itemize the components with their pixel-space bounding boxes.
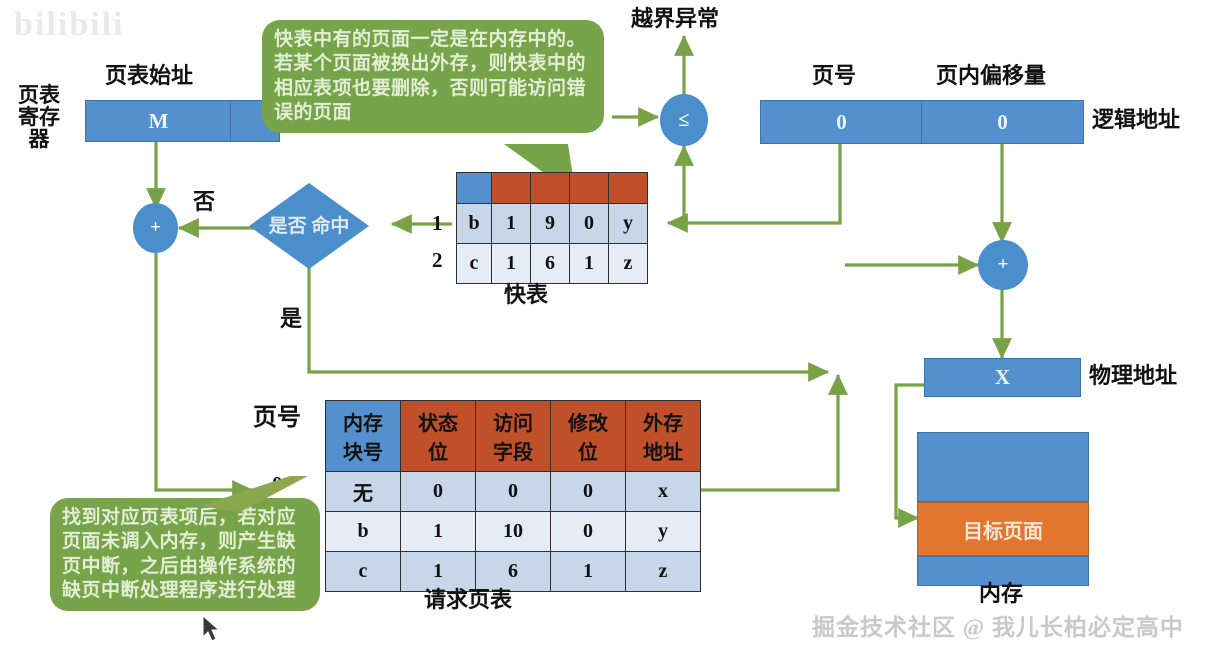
tlb-header-cell-4: [609, 173, 648, 204]
page-table-header-cell: 外存 地址: [626, 401, 701, 472]
tlb-cell: 1: [570, 244, 609, 284]
tlb-cell: c: [457, 244, 492, 284]
page-table-header-cell: 状态 位: [401, 401, 476, 472]
page-table-header-row: 内存 块号 状态 位 访问 字段 修改 位 外存 地址: [326, 401, 701, 472]
memory-block-free-top: [917, 432, 1089, 502]
page-table-cell: 0: [476, 472, 551, 512]
decision-label: 是否 命中: [248, 182, 370, 270]
logical-address-offset-field[interactable]: 0: [921, 100, 1084, 144]
tlb-cell: z: [609, 244, 648, 284]
tlb-caption: 快表: [504, 283, 548, 306]
tlb-cell: 0: [570, 204, 609, 244]
page-table-cell: 1: [401, 552, 476, 592]
offset-header-label: 页内偏移量: [936, 64, 1046, 87]
adder-left[interactable]: +: [133, 203, 178, 253]
page-table-cell: 0: [551, 472, 626, 512]
tlb-note-text: 快表中有的页面一定是在内存中的。若某个页面被换出外存，则快表中的相应表项也要删除…: [262, 20, 604, 133]
tlb-cell: b: [457, 204, 492, 244]
out-of-bounds-exception-label: 越界异常: [631, 7, 719, 30]
memory-caption: 内存: [979, 582, 1023, 605]
page-table-cell: x: [626, 472, 701, 512]
page-table-base-addr-label: 页表始址: [105, 64, 193, 87]
target-page-label: 目标页面: [963, 515, 1043, 544]
diagram-canvas: bilibili 掘金技术社区 @ 我儿长柏必定高中: [0, 0, 1217, 658]
tlb-header-cell-1: [492, 173, 531, 204]
page-number-header-label: 页号: [812, 64, 856, 87]
physical-address-label: 物理地址: [1089, 364, 1177, 387]
tlb-cell: 9: [531, 204, 570, 244]
branch-label-yes: 是: [280, 307, 302, 330]
page-table-caption: 请求页表: [424, 588, 512, 611]
tlb-cell: 6: [531, 244, 570, 284]
tlb-table-row: c 1 6 1 z: [457, 244, 648, 284]
branch-label-no: 否: [193, 190, 215, 213]
page-table-cell: z: [626, 552, 701, 592]
logical-address-page-number-field[interactable]: 0: [760, 100, 923, 144]
tlb-cell: 1: [492, 244, 531, 284]
page-table-cell: c: [326, 552, 401, 592]
decision-hit-or-miss[interactable]: 是否 命中: [248, 182, 370, 270]
tlb-row-index-1: 1: [432, 211, 443, 236]
mouse-cursor: [203, 616, 223, 644]
page-table-header-cell: 访问 字段: [476, 401, 551, 472]
page-table-base-addr-field[interactable]: M: [85, 100, 232, 142]
physical-address-field[interactable]: X: [924, 358, 1081, 397]
tlb-header-cell-3: [570, 173, 609, 204]
tlb-cell: 1: [492, 204, 531, 244]
page-table-cell: 1: [401, 512, 476, 552]
community-watermark: 掘金技术社区 @ 我儿长柏必定高中: [812, 608, 1184, 642]
tlb-cell: y: [609, 204, 648, 244]
tlb-header-cell-2: [531, 173, 570, 204]
logical-address-label: 逻辑地址: [1092, 108, 1180, 131]
tlb-header-cell-0: [457, 173, 492, 204]
page-table-row: c 1 6 1 z: [326, 552, 701, 592]
page-table-cell: b: [326, 512, 401, 552]
tlb-table-row: b 1 9 0 y: [457, 204, 648, 244]
adder-right[interactable]: +: [978, 240, 1028, 290]
page-table-cell: 0: [551, 512, 626, 552]
bilibili-watermark-logo: bilibili: [14, 6, 125, 44]
tlb-note-callout: 快表中有的页面一定是在内存中的。若某个页面被换出外存，则快表中的相应表项也要删除…: [262, 20, 604, 133]
tlb-header-row: [457, 173, 648, 204]
page-table-cell: y: [626, 512, 701, 552]
page-number-side-label: 页号: [253, 406, 301, 431]
tlb-table: b 1 9 0 y c 1 6 1 z: [456, 172, 648, 284]
memory-block-target-page: 目标页面: [917, 502, 1089, 556]
memory-diagram: 目标页面: [917, 432, 1089, 586]
page-fault-note-callout: 找到对应页表项后，若对应页面未调入内存，则产生缺页中断，之后由操作系统的缺页中断…: [50, 498, 320, 611]
page-table-register-label: 页表 寄存 器: [18, 84, 60, 150]
page-table-cell: 6: [476, 552, 551, 592]
page-table-cell: 10: [476, 512, 551, 552]
tlb-row-index-2: 2: [432, 248, 443, 273]
page-table-row: b 1 10 0 y: [326, 512, 701, 552]
page-table-header-cell: 修改 位: [551, 401, 626, 472]
compare-circle[interactable]: ≤: [660, 94, 708, 146]
page-table-cell: 1: [551, 552, 626, 592]
page-table-header-cell: 内存 块号: [326, 401, 401, 472]
